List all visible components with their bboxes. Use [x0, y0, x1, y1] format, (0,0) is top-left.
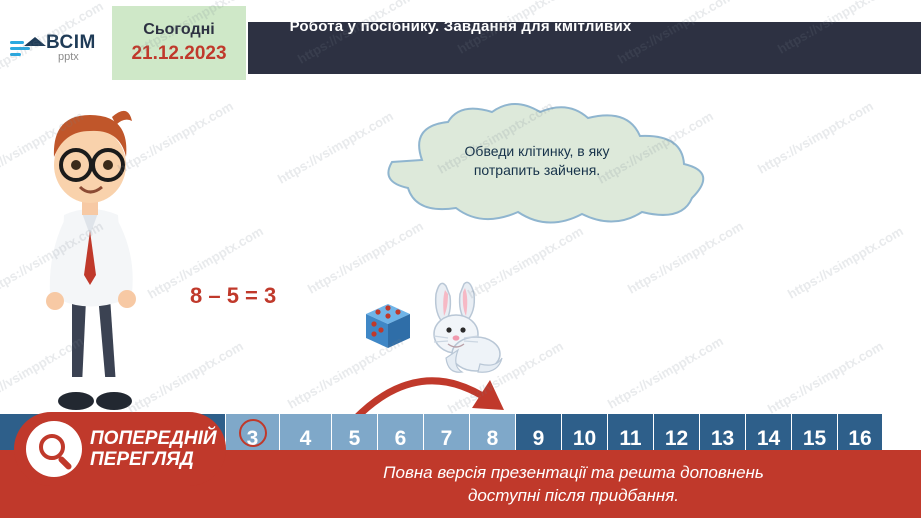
slide: Робота у посібнику. Завдання для кмітлив… [0, 0, 921, 518]
banner-line-2: доступні після придбання. [468, 484, 679, 507]
logo-subtitle: pptx [58, 52, 96, 63]
watermark-text: https://vsimpptx.com [605, 333, 726, 411]
banner-line-1: Повна версія презентації та решта доповн… [383, 461, 764, 484]
date-badge-date: 21.12.2023 [131, 43, 226, 65]
dice-illustration [362, 300, 414, 352]
logo-title: ВСІМ [46, 33, 96, 52]
bottom-banner-text: Повна версія презентації та решта доповн… [226, 452, 921, 516]
magnifier-icon [26, 421, 82, 477]
watermark-text: https://vsimpptx.com [625, 218, 746, 296]
cloud-line-1: Обведи клітинку, в яку [352, 142, 722, 161]
boy-character-illustration [20, 95, 160, 425]
bunny-illustration [418, 280, 510, 380]
preview-label-line-1: ПОПЕРЕДНІЙ [90, 428, 217, 449]
date-badge: Сьогодні 21.12.2023 [110, 4, 248, 82]
watermark-text: https://vsimpptx.com [785, 223, 906, 301]
cloud-line-2: потрапить зайченя. [352, 161, 722, 180]
speech-cloud: Обведи клітинку, в яку потрапить зайченя… [352, 100, 722, 230]
date-badge-label: Сьогодні [143, 21, 214, 39]
watermark-text: https://vsimpptx.com [305, 218, 426, 296]
watermark-text: https://vsimpptx.com [755, 98, 876, 176]
preview-badge[interactable]: ПОПЕРЕДНІЙ ПЕРЕГЛЯД [14, 412, 226, 486]
graduation-cap-icon [10, 33, 44, 63]
preview-label-line-2: ПЕРЕГЛЯД [90, 449, 217, 470]
watermark-text: https://vsimpptx.com [765, 338, 886, 416]
cloud-task-text: Обведи клітинку, в яку потрапить зайченя… [352, 142, 722, 180]
equation-text: 8 – 5 = 3 [190, 283, 276, 309]
logo-block: ВСІМ pptx [0, 22, 120, 74]
